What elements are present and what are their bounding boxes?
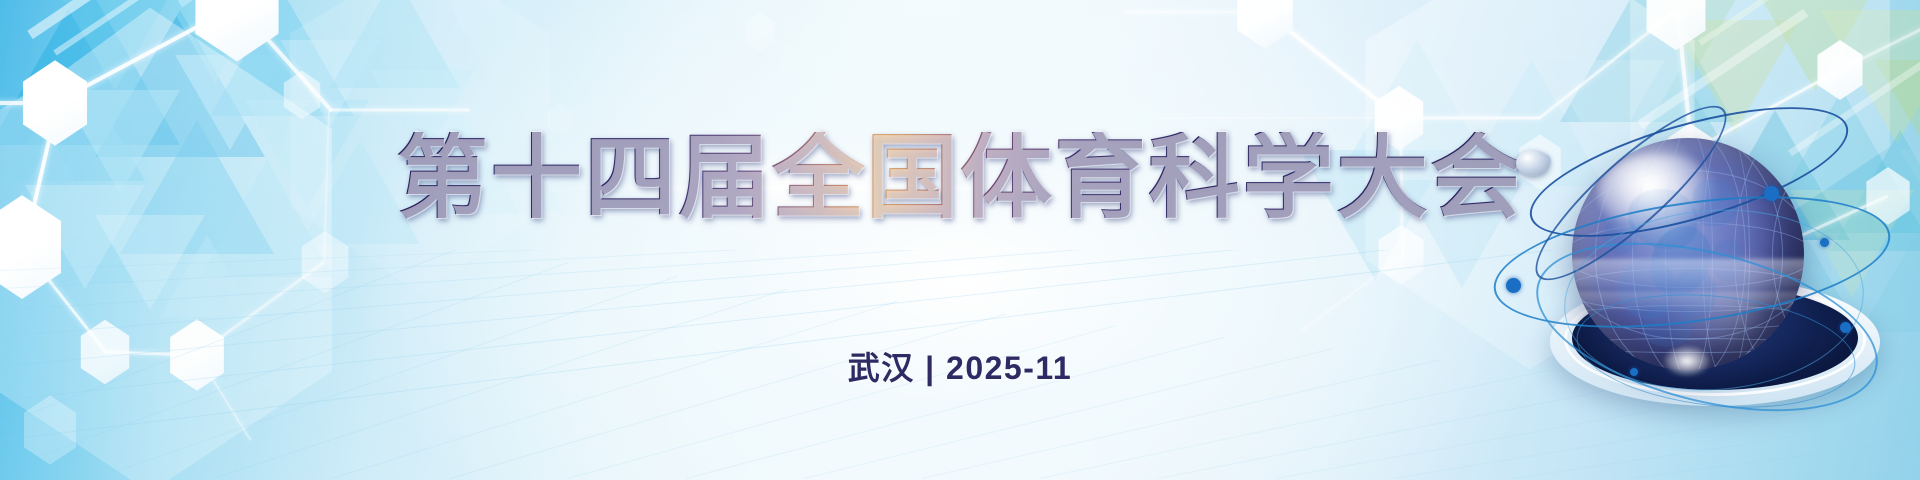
grid-line-horizontal <box>0 250 1668 441</box>
hexagon-node <box>743 12 777 51</box>
orbit-node-dot <box>1764 186 1779 201</box>
network-link <box>1155 117 1399 119</box>
network-link <box>760 32 980 151</box>
orbit-node-dot <box>1820 238 1829 247</box>
grid-line-diagonal <box>568 325 1115 479</box>
conference-banner: 第十四届全国体育科学大会 武汉 | 2025-11 <box>0 0 1920 480</box>
orbit-node-dot <box>1630 368 1638 376</box>
grid-line-diagonal <box>96 275 678 479</box>
grid-line-diagonal <box>922 359 1441 479</box>
grid-line-diagonal <box>0 262 568 479</box>
hexagon-node <box>546 104 574 136</box>
grid-line-diagonal <box>214 288 788 479</box>
orbit-node-dot <box>1840 322 1851 333</box>
globe-graphic <box>1480 110 1920 450</box>
grid-line-diagonal <box>686 337 1224 479</box>
hexagon-node <box>1233 0 1297 49</box>
orbit-node-dot <box>1506 278 1521 293</box>
lens-flare-streak <box>560 186 1080 190</box>
grid-line-diagonal <box>332 301 897 479</box>
grid-line-diagonal <box>450 313 1006 479</box>
grid-line-horizontal <box>0 250 1493 367</box>
grid-line-diagonal <box>1040 370 1549 479</box>
satellite-icon <box>1516 150 1550 176</box>
